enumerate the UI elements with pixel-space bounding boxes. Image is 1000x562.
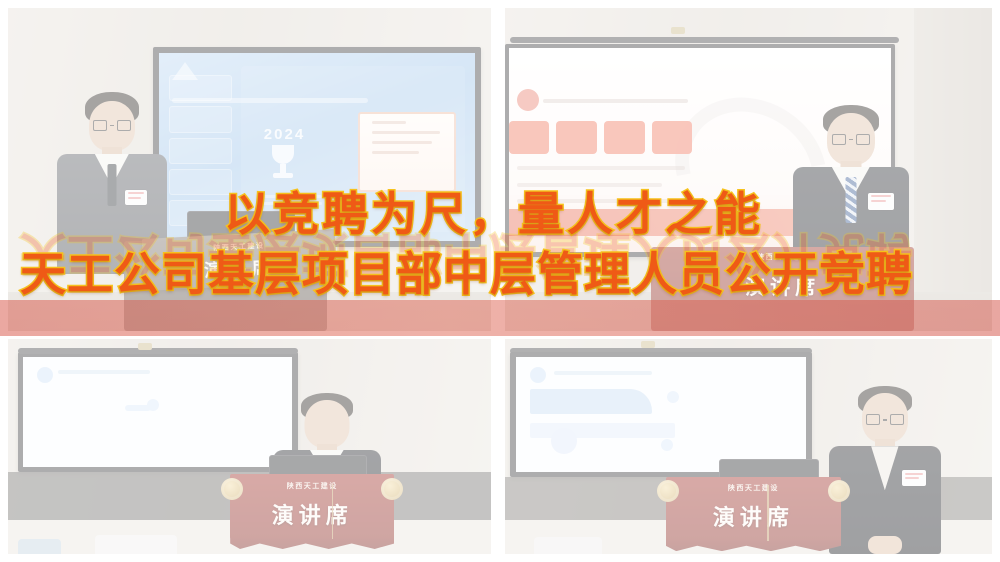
tassel-cord [767, 485, 769, 542]
name-badge [902, 470, 926, 486]
photo-panel-bottom-right: 陕西天工建设 演讲席 [505, 339, 992, 554]
photo-panel-bottom-left: 陕西天工建设 演讲席 [8, 339, 491, 554]
poster-canvas: 2024 [0, 0, 1000, 562]
tassel-ornament-right [828, 480, 850, 502]
chair-back [534, 537, 602, 554]
wall-right-column [914, 8, 992, 331]
podium-drape: 陕西天工建设 演讲席 [230, 474, 394, 539]
headline-band [0, 300, 1000, 336]
slide-plain [516, 357, 806, 472]
meeting-room-scene: 陕西天工建设 演讲席 [505, 339, 992, 554]
podium-sign-title: 演讲席 [651, 271, 914, 300]
rail-card [169, 75, 232, 101]
screen-mount-knob [138, 343, 152, 350]
laptop [269, 455, 368, 476]
slide-marker [667, 391, 679, 403]
name-badge [125, 190, 147, 205]
podium-sign-title: 演讲席 [666, 500, 841, 532]
screen-mount-knob [671, 27, 685, 34]
podium: 陕西天工建设 演讲席 [230, 474, 394, 539]
podium-sign-company: 陕西天工建设 [651, 252, 914, 262]
slide-header-bar [58, 370, 149, 374]
slide-tile [556, 121, 597, 154]
slide-tile-row [509, 121, 692, 154]
photo-collage: 2024 [8, 8, 992, 554]
photo-panel-top-right: 陕西天工建设 演讲席 [505, 8, 992, 331]
glasses-icon [832, 134, 870, 145]
screen-mount-rod [510, 37, 900, 43]
meeting-room-scene: 2024 [8, 8, 491, 331]
podium: 陕西天工建设 演讲席 [666, 477, 841, 542]
slide-tile [652, 121, 693, 154]
trophy-icon [268, 145, 298, 179]
slide-main-area: 2024 [241, 66, 465, 232]
name-badge [868, 193, 894, 210]
head [304, 400, 349, 448]
tassel-ornament-left [657, 480, 679, 502]
screen-mount-knob [641, 341, 655, 348]
certificate-thumbnail [358, 112, 456, 192]
slide-tile [604, 121, 645, 154]
slide-marker [125, 405, 151, 411]
clasped-hands [868, 536, 902, 554]
rail-card [169, 106, 232, 132]
slide-circle-mark [551, 428, 577, 454]
projector-screen-surface [23, 357, 292, 468]
slide-bullet-icon [37, 367, 53, 383]
slide-plain [23, 357, 292, 468]
slide-shape-block [530, 389, 652, 414]
rail-card [169, 169, 232, 195]
slide-side-rail [169, 75, 232, 226]
slide-year-label: 2024 [264, 126, 305, 143]
photo-panel-top-left: 2024 [8, 8, 491, 331]
tassel-cord [332, 484, 334, 539]
slide-header-bar [554, 371, 653, 375]
podium-drape: 陕西天工建设 演讲席 [666, 477, 841, 542]
glasses-icon [866, 414, 904, 425]
necktie [845, 177, 856, 223]
slide-caption-lines [259, 195, 322, 209]
rail-card [169, 138, 232, 164]
podium-sign-company: 陕西天工建设 [666, 483, 841, 493]
necktie [107, 164, 116, 206]
podium-sign-plaque: 陕西天工建设 演讲席 [142, 229, 338, 291]
projector-screen-frame [510, 352, 812, 477]
slide-logo-icon [517, 89, 539, 111]
glasses-icon [93, 120, 131, 131]
slide-bullet-icon [530, 367, 546, 383]
projector-screen-frame [18, 352, 298, 472]
meeting-room-scene: 陕西天工建设 演讲席 [8, 339, 491, 554]
meeting-room-scene: 陕西天工建设 演讲席 [505, 8, 992, 331]
slide-tile [509, 121, 550, 154]
chair-back [18, 539, 61, 554]
screen-mount-rod [18, 348, 298, 354]
slide-nav-bar [543, 99, 688, 103]
projector-screen-surface [516, 357, 806, 472]
podium-sign-title: 演讲席 [230, 498, 394, 530]
podium-sign-company: 陕西天工建设 [230, 481, 394, 491]
chair-back [95, 535, 177, 554]
slide-marker [661, 439, 673, 451]
